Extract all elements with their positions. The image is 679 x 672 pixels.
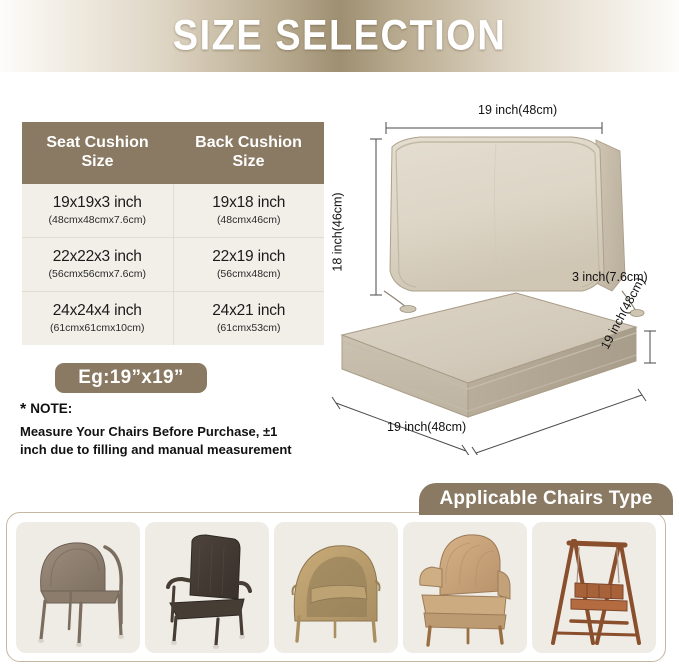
cell-seat-size-1: 19x19x3 inch (48cmx48cmx7.6cm) bbox=[22, 184, 173, 238]
swing-footrest-bar bbox=[571, 621, 627, 623]
example-size-badge: Eg:19”x19” bbox=[55, 363, 207, 393]
chair-foot-cap-1 bbox=[171, 641, 177, 645]
chair-arm-post-left bbox=[172, 587, 174, 621]
applicable-chairs-panel bbox=[6, 512, 666, 662]
dark-rattan-armchair-icon bbox=[148, 525, 266, 649]
chair-leg-front-right bbox=[373, 617, 375, 641]
swing-seat bbox=[571, 599, 627, 611]
chair-card-dark-rattan-armchair[interactable] bbox=[145, 522, 269, 653]
chair-back-panel bbox=[190, 535, 240, 599]
table-header-row: Seat Cushion Size Back Cushion Size bbox=[22, 122, 324, 184]
chair-leg-back-right bbox=[240, 607, 242, 635]
dimension-line-seat-thickness bbox=[644, 331, 656, 363]
asterisk-icon: * bbox=[20, 401, 26, 418]
chair-card-wicker-tub-chair[interactable] bbox=[274, 522, 398, 653]
chair-armrest-right bbox=[240, 583, 250, 591]
chair-armrest-left bbox=[168, 579, 192, 587]
cell-back-size-3: 24x21 inch (61cmx53cm) bbox=[173, 291, 324, 345]
note-heading: *NOTE: bbox=[20, 402, 295, 418]
cell-seat-size-1-sub: (48cmx48cmx7.6cm) bbox=[26, 214, 169, 226]
natural-rattan-armchair-icon bbox=[406, 525, 524, 649]
chair-foot-cap-1 bbox=[38, 639, 44, 643]
cell-back-size-2-sub: (56cmx48cm) bbox=[178, 268, 321, 280]
column-header-seat-cushion-line2: Size bbox=[26, 153, 169, 172]
cushion-tie-left-knot bbox=[400, 306, 416, 313]
column-header-seat-cushion: Seat Cushion Size bbox=[22, 122, 173, 184]
cushion-tie-left bbox=[384, 291, 406, 307]
cell-back-size-3-sub: (61cmx53cm) bbox=[178, 322, 321, 334]
chair-leg-front-left bbox=[428, 627, 430, 645]
chair-foot-cap-3 bbox=[118, 635, 124, 639]
chair-back-panel bbox=[41, 543, 105, 591]
chair-card-natural-rattan-armchair[interactable] bbox=[403, 522, 527, 653]
table-row: 24x24x4 inch (61cmx61cmx10cm) 24x21 inch… bbox=[22, 291, 324, 345]
chair-armrest-left bbox=[420, 567, 442, 587]
wicker-tub-chair-icon bbox=[277, 525, 395, 649]
note-block: *NOTE: Measure Your Chairs Before Purcha… bbox=[20, 402, 295, 460]
chair-foot-cap-2 bbox=[76, 643, 82, 647]
dimension-line-back-width bbox=[386, 122, 602, 134]
label-back-cushion-height: 18 inch(46cm) bbox=[331, 192, 345, 271]
chair-leg-front-right bbox=[500, 627, 502, 643]
chair-armrest-right bbox=[498, 571, 510, 599]
cell-seat-size-3: 24x24x4 inch (61cmx61cmx10cm) bbox=[22, 291, 173, 345]
cell-seat-size-2-main: 22x22x3 inch bbox=[26, 248, 169, 266]
chair-foot-cap-3 bbox=[239, 635, 245, 639]
chair-card-wooden-porch-swing[interactable] bbox=[532, 522, 656, 653]
cell-back-size-2-main: 22x19 inch bbox=[178, 248, 321, 266]
chair-back-panel bbox=[440, 535, 500, 595]
swing-top-beam bbox=[569, 543, 625, 545]
column-header-back-cushion-line1: Back Cushion bbox=[177, 134, 320, 153]
table-row: 19x19x3 inch (48cmx48cmx7.6cm) 19x18 inc… bbox=[22, 184, 324, 238]
column-header-back-cushion: Back Cushion Size bbox=[173, 122, 324, 184]
column-header-seat-cushion-line1: Seat Cushion bbox=[26, 134, 169, 153]
chair-leg-front-right bbox=[79, 603, 81, 643]
wooden-porch-swing-icon bbox=[535, 525, 653, 649]
cell-back-size-1: 19x18 inch (48cmx46cm) bbox=[173, 184, 324, 238]
applicable-chairs-banner: Applicable Chairs Type bbox=[419, 483, 673, 515]
label-back-cushion-width: 19 inch(48cm) bbox=[478, 103, 557, 117]
page-title: SIZE SELECTION bbox=[173, 12, 506, 60]
chair-foot-cap-2 bbox=[213, 645, 219, 649]
stacking-wicker-armchair-icon bbox=[19, 525, 137, 649]
chair-seat bbox=[170, 599, 244, 619]
size-chart-table: Seat Cushion Size Back Cushion Size 19x1… bbox=[22, 122, 324, 345]
cell-back-size-3-main: 24x21 inch bbox=[178, 302, 321, 320]
page-header-banner: SIZE SELECTION bbox=[0, 0, 679, 72]
cell-back-size-2: 22x19 inch (56cmx48cm) bbox=[173, 237, 324, 291]
label-seat-cushion-width: 19 inch(48cm) bbox=[387, 420, 466, 434]
swing-bottom-brace bbox=[557, 633, 635, 635]
chair-leg-front-left bbox=[174, 617, 176, 641]
note-heading-label: NOTE: bbox=[30, 401, 72, 416]
chair-card-stacking-wicker-armchair[interactable] bbox=[16, 522, 140, 653]
table-row: 22x22x3 inch (56cmx56cmx7.6cm) 22x19 inc… bbox=[22, 237, 324, 291]
chair-base-panel bbox=[424, 613, 506, 629]
cell-seat-size-3-main: 24x24x4 inch bbox=[26, 302, 169, 320]
dimension-line-back-height bbox=[370, 139, 382, 295]
chair-leg-front-left bbox=[41, 601, 45, 639]
cushion-dimension-diagram: 19 inch(48cm) 18 inch(46cm) 3 inch(7.6cm… bbox=[320, 95, 679, 455]
cell-seat-size-2-sub: (56cmx56cmx7.6cm) bbox=[26, 268, 169, 280]
cell-back-size-1-main: 19x18 inch bbox=[178, 194, 321, 212]
cell-seat-size-2: 22x22x3 inch (56cmx56cmx7.6cm) bbox=[22, 237, 173, 291]
column-header-back-cushion-line2: Size bbox=[177, 153, 320, 172]
chair-seat bbox=[41, 591, 119, 603]
chair-leg-front-right bbox=[216, 619, 218, 645]
chair-leg-front-left bbox=[297, 617, 299, 641]
cell-seat-size-3-sub: (61cmx61cmx10cm) bbox=[26, 322, 169, 334]
cell-seat-size-1-main: 19x19x3 inch bbox=[26, 194, 169, 212]
note-body-text: Measure Your Chairs Before Purchase, ±1 … bbox=[20, 423, 295, 460]
chair-leg-back-right bbox=[119, 595, 121, 635]
cell-back-size-1-sub: (48cmx46cm) bbox=[178, 214, 321, 226]
